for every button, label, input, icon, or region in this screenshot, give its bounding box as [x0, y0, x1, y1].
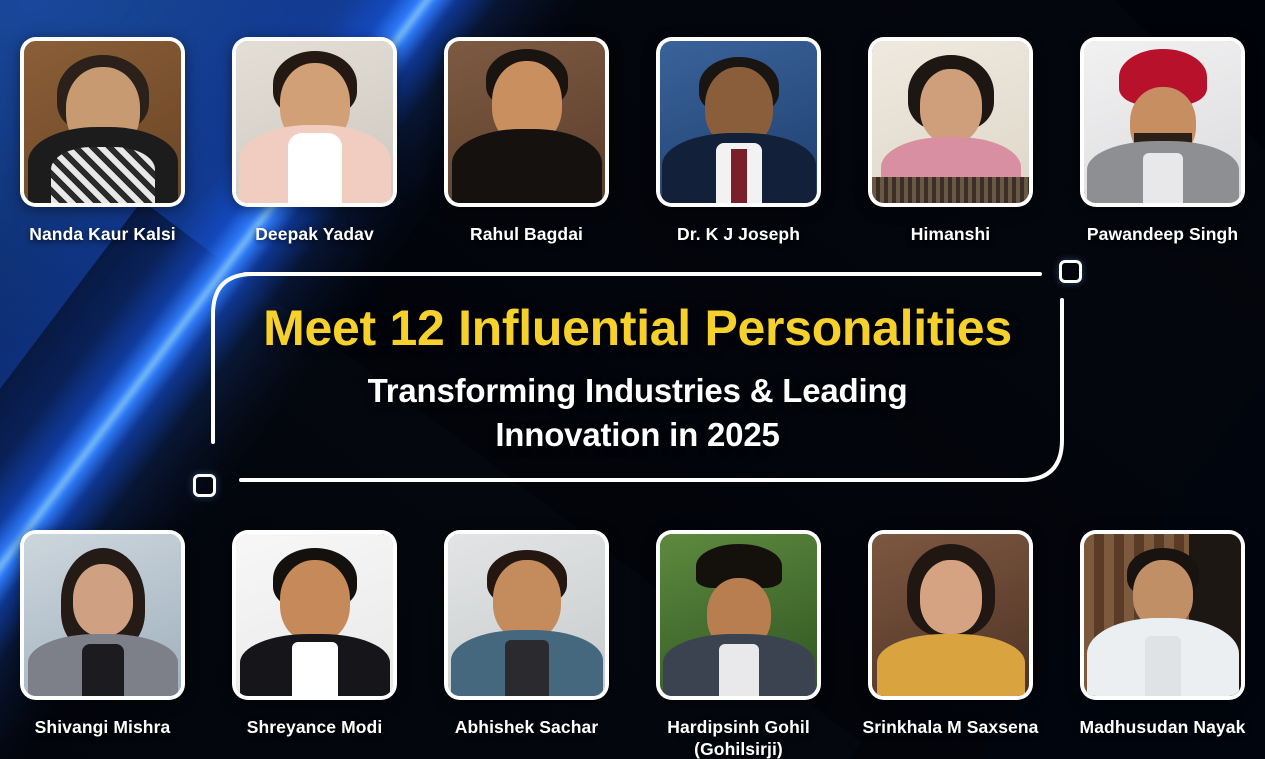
person-card[interactable]: Shreyance Modi [232, 530, 397, 759]
person-name: Abhishek Sachar [455, 717, 599, 739]
person-card[interactable]: Deepak Yadav [232, 37, 397, 246]
subtitle-line-2: Innovation in 2025 [495, 416, 779, 453]
person-photo [1084, 534, 1241, 696]
person-photo [236, 41, 393, 203]
person-photo [872, 534, 1029, 696]
person-card[interactable]: Nanda Kaur Kalsi [20, 37, 185, 246]
person-name: Shreyance Modi [247, 717, 383, 739]
person-card[interactable]: Himanshi [868, 37, 1033, 246]
person-card[interactable]: Madhusudan Nayak [1080, 530, 1245, 759]
person-card[interactable]: Rahul Bagdai [444, 37, 609, 246]
person-name: Madhusudan Nayak [1080, 717, 1246, 739]
person-photo [448, 534, 605, 696]
person-name: Himanshi [911, 224, 991, 246]
photo-frame [232, 37, 397, 207]
poster-canvas: Nanda Kaur Kalsi Deepak Yadav [0, 0, 1265, 759]
headline-panel: Meet 12 Influential Personalities Transf… [205, 272, 1070, 484]
people-row-top: Nanda Kaur Kalsi Deepak Yadav [0, 37, 1265, 246]
person-card[interactable]: Abhishek Sachar [444, 530, 609, 759]
photo-frame [20, 37, 185, 207]
person-card[interactable]: Hardipsinh Gohil (Gohilsirji) [656, 530, 821, 759]
person-name: Hardipsinh Gohil (Gohilsirji) [667, 717, 810, 759]
person-photo [448, 41, 605, 203]
person-photo [1084, 41, 1241, 203]
person-name-line-2: (Gohilsirji) [694, 739, 783, 759]
headline-text: Meet 12 Influential Personalities [263, 303, 1012, 353]
subtitle-text: Transforming Industries & Leading Innova… [368, 369, 908, 457]
person-name: Rahul Bagdai [470, 224, 583, 246]
photo-frame [868, 37, 1033, 207]
person-photo [660, 41, 817, 203]
person-name: Pawandeep Singh [1087, 224, 1238, 246]
person-name: Deepak Yadav [255, 224, 374, 246]
photo-frame [656, 37, 821, 207]
photo-frame [444, 530, 609, 700]
person-name: Dr. K J Joseph [677, 224, 800, 246]
person-name-line-1: Hardipsinh Gohil [667, 717, 810, 737]
person-photo [236, 534, 393, 696]
person-photo [24, 41, 181, 203]
photo-frame [656, 530, 821, 700]
person-card[interactable]: Srinkhala M Saxsena [868, 530, 1033, 759]
photo-frame [232, 530, 397, 700]
people-row-bottom: Shivangi Mishra Shreyance Modi [0, 530, 1265, 759]
person-photo [24, 534, 181, 696]
photo-frame [444, 37, 609, 207]
person-name: Srinkhala M Saxsena [863, 717, 1039, 739]
photo-frame [1080, 530, 1245, 700]
photo-frame [20, 530, 185, 700]
photo-frame [868, 530, 1033, 700]
photo-frame [1080, 37, 1245, 207]
person-card[interactable]: Pawandeep Singh [1080, 37, 1245, 246]
subtitle-line-1: Transforming Industries & Leading [368, 372, 908, 409]
person-card[interactable]: Dr. K J Joseph [656, 37, 821, 246]
person-photo [872, 41, 1029, 203]
person-name: Shivangi Mishra [35, 717, 171, 739]
person-photo [660, 534, 817, 696]
person-name: Nanda Kaur Kalsi [29, 224, 176, 246]
person-card[interactable]: Shivangi Mishra [20, 530, 185, 759]
